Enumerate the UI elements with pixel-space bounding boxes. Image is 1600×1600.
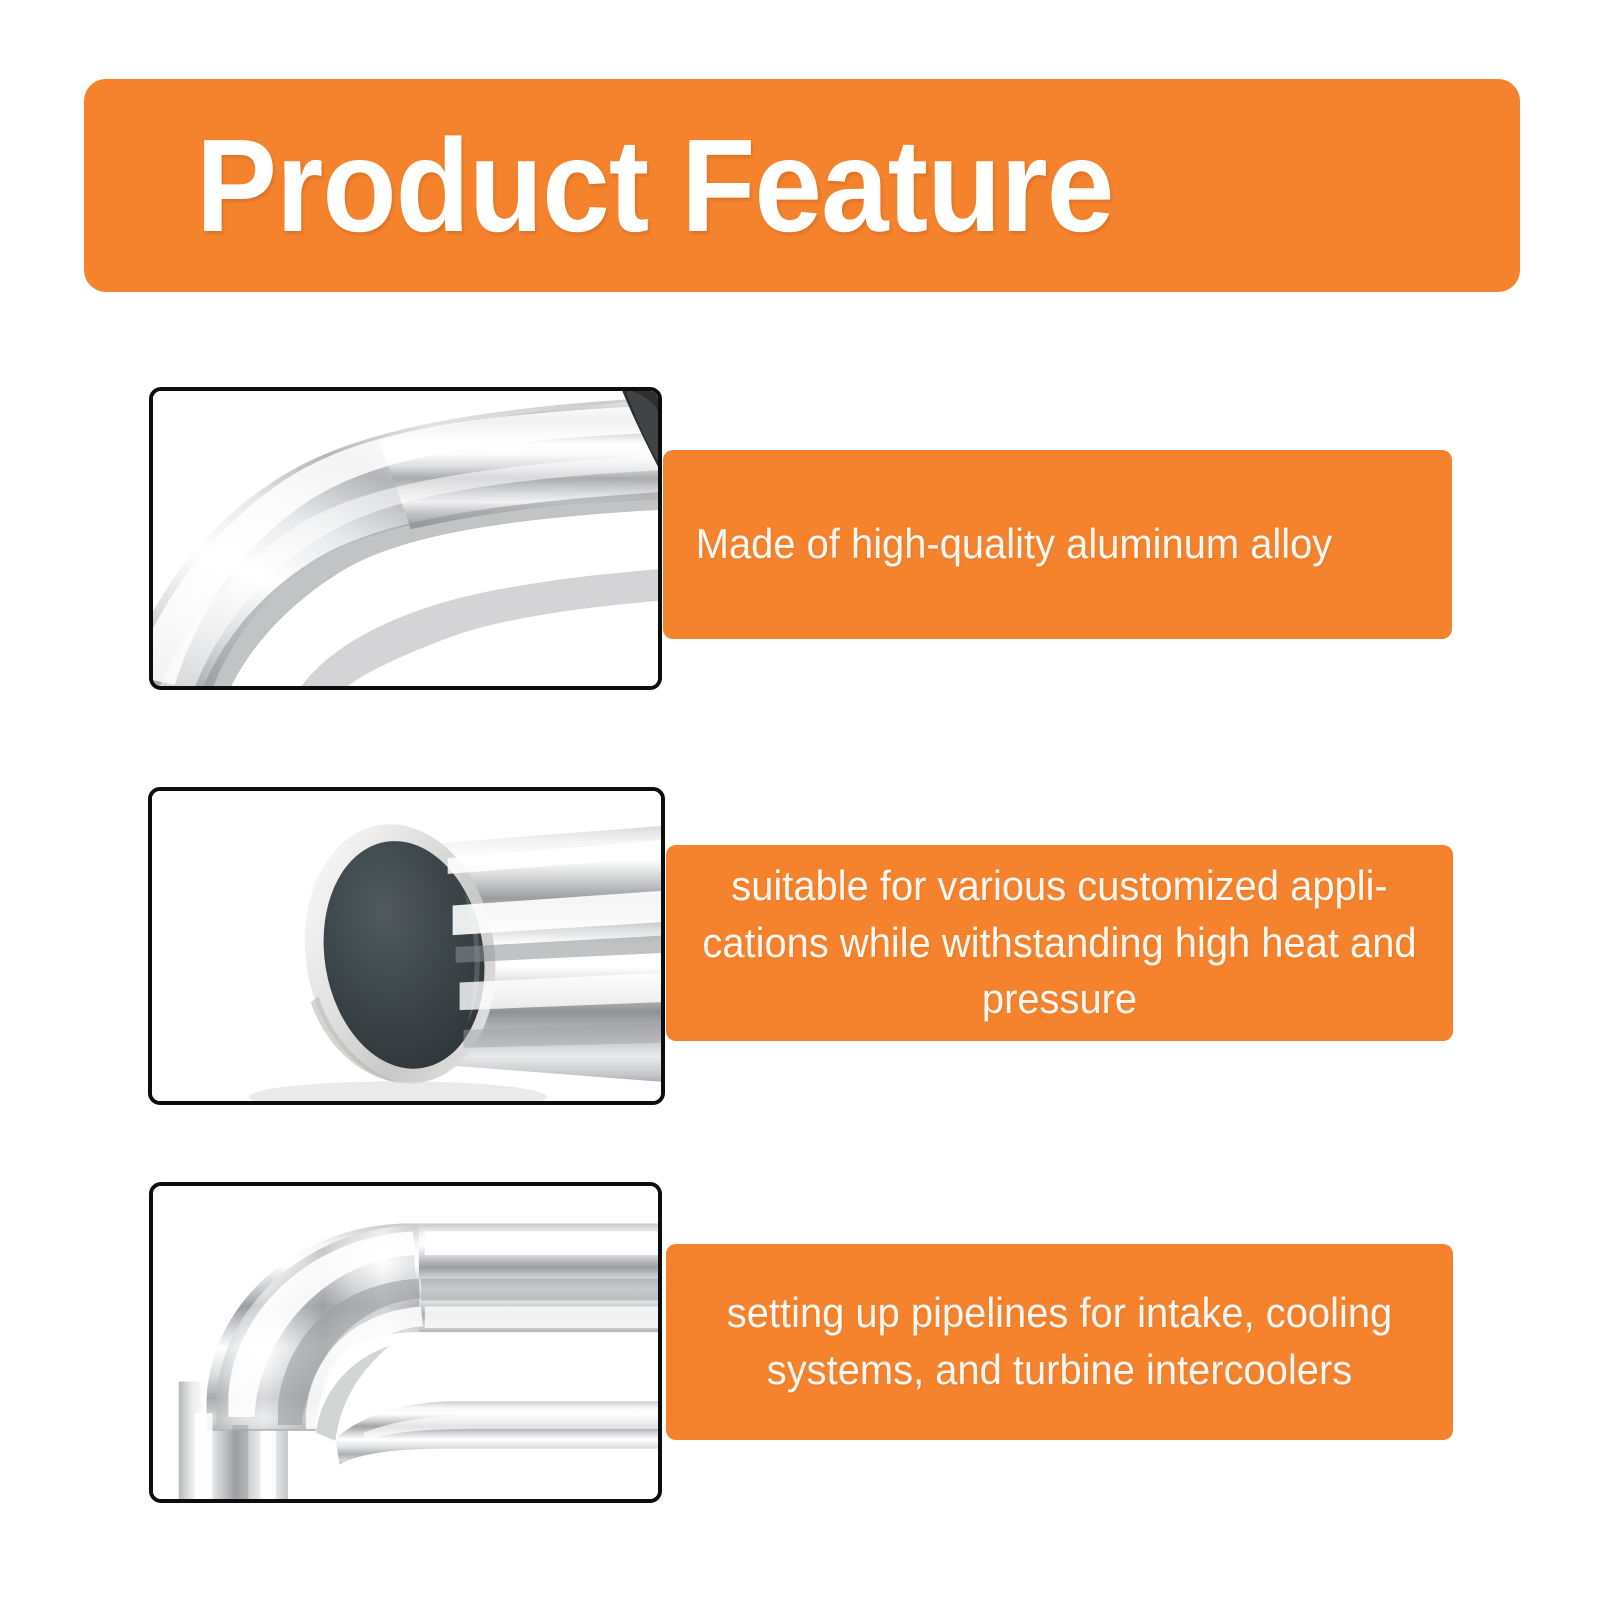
pipe-end-illustration — [152, 791, 661, 1101]
feature-image-frame-1 — [149, 387, 662, 690]
page-title: Product Feature — [196, 120, 1113, 252]
pipe-elbow-illustration — [153, 1186, 658, 1499]
feature-image-frame-3 — [149, 1182, 662, 1503]
pipe-open-end-photo — [152, 791, 661, 1101]
curved-aluminum-pipe-closeup-photo — [153, 391, 658, 686]
feature-text-panel-2: suitable for various customized appli-ca… — [666, 845, 1453, 1041]
feature-text-panel-1: Made of high-quality aluminum alloy — [663, 450, 1452, 639]
feature-text-2: suitable for various customized appli-ca… — [701, 858, 1418, 1028]
pipe-curve-illustration — [153, 391, 658, 686]
feature-image-frame-2 — [148, 787, 665, 1105]
header-banner: Product Feature — [84, 79, 1520, 292]
ninety-degree-elbow-pipe-photo — [153, 1186, 658, 1499]
feature-text-1: Made of high-quality aluminum alloy — [696, 516, 1333, 573]
feature-text-panel-3: setting up pipelines for intake, cooling… — [666, 1244, 1453, 1440]
feature-text-3: setting up pipelines for intake, cooling… — [701, 1285, 1418, 1398]
